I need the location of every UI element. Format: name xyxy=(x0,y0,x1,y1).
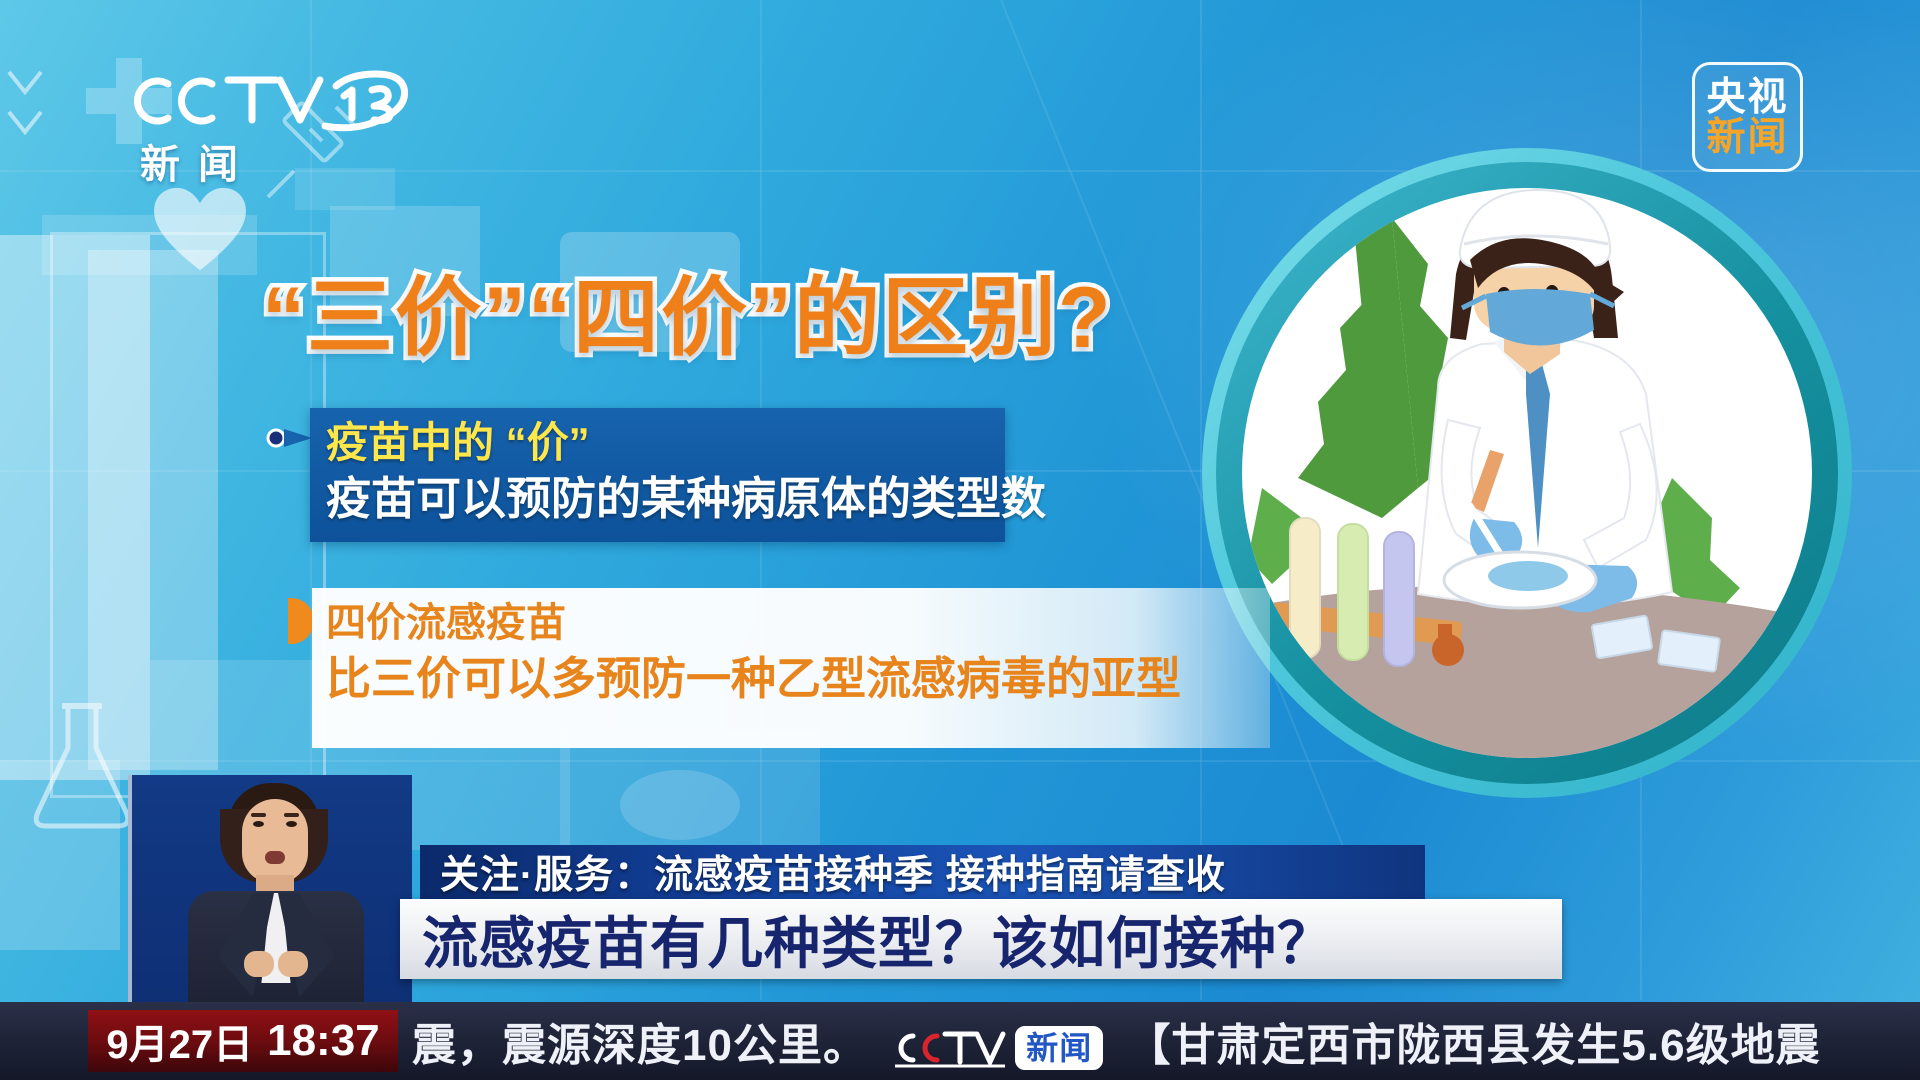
lab-scientist-illustration xyxy=(1202,148,1852,798)
channel-logo: 新闻 xyxy=(104,60,414,180)
info-box-vaccine-valency: 疫苗中的 “价” 疫苗可以预防的某种病原体的类型数 xyxy=(310,408,1005,542)
deco-panel xyxy=(88,250,218,770)
lower-third-title: 流感疫苗有几种类型？该如何接种？ xyxy=(400,899,1562,979)
channel-sub-label: 新闻 xyxy=(140,132,290,190)
info-box-quadrivalent: 四价流感疫苗 比三价可以多预防一种乙型流感病毒的亚型 xyxy=(312,588,1270,748)
page-title: “三价”“四价”的区别? xyxy=(262,272,1113,364)
ticker-date: 9月27日 xyxy=(106,1012,253,1070)
ticker-datetime: 9月27日 18:37 xyxy=(88,1010,398,1072)
lower-third-title-text: 流感疫苗有几种类型？该如何接种？ xyxy=(422,899,1334,980)
lower-third-topic: 关注·服务：流感疫苗接种季 接种指南请查收 xyxy=(420,845,1425,899)
ticker-text-before: 震，震源深度10公里。 xyxy=(412,1021,868,1070)
broadcast-screen: 新闻 央视 新闻 xyxy=(0,0,1920,1080)
info-box-2-body: 比三价可以多预防一种乙型流感病毒的亚型 xyxy=(326,650,1256,708)
watermark-line-1: 央视 xyxy=(1706,78,1788,117)
cctv-wordmark-icon xyxy=(891,1026,1009,1070)
heart-icon xyxy=(152,186,248,274)
cctv13-wordmark xyxy=(120,66,410,136)
lower-third-topic-text: 关注·服务：流感疫苗接种季 接种指南请查收 xyxy=(440,844,1226,900)
news-ticker: 9月27日 18:37 震，震源深度10公里。 新闻 【甘肃定西市陇西县发生5.… xyxy=(0,1002,1920,1080)
deco-panel xyxy=(0,235,150,780)
ticker-cctv-news-badge: 新闻 xyxy=(1015,1026,1103,1070)
ticker-cctv-logo: 新闻 xyxy=(891,1026,1103,1070)
info-box-2-title: 四价流感疫苗 xyxy=(326,596,1256,650)
news-anchor-video xyxy=(128,775,412,1007)
blue-dot-pointer-icon xyxy=(266,425,312,451)
deco-panel xyxy=(560,730,820,850)
ticker-time: 18:37 xyxy=(267,1016,380,1066)
ticker-text-after: 【甘肃定西市陇西县发生5.6级地震 xyxy=(1126,1021,1820,1070)
scientist-artwork xyxy=(1242,188,1812,758)
ticker-content: 震，震源深度10公里。 新闻 【甘肃定西市陇西县发生5.6级地震 xyxy=(412,1009,1821,1073)
orange-triangle-icon xyxy=(288,598,314,644)
flask-icon xyxy=(22,700,142,835)
chevron-down-icon xyxy=(5,66,45,156)
info-box-1-body: 疫苗可以预防的某种病原体的类型数 xyxy=(326,470,991,528)
info-box-1-title: 疫苗中的 “价” xyxy=(326,416,991,470)
deco-blob xyxy=(620,770,740,840)
